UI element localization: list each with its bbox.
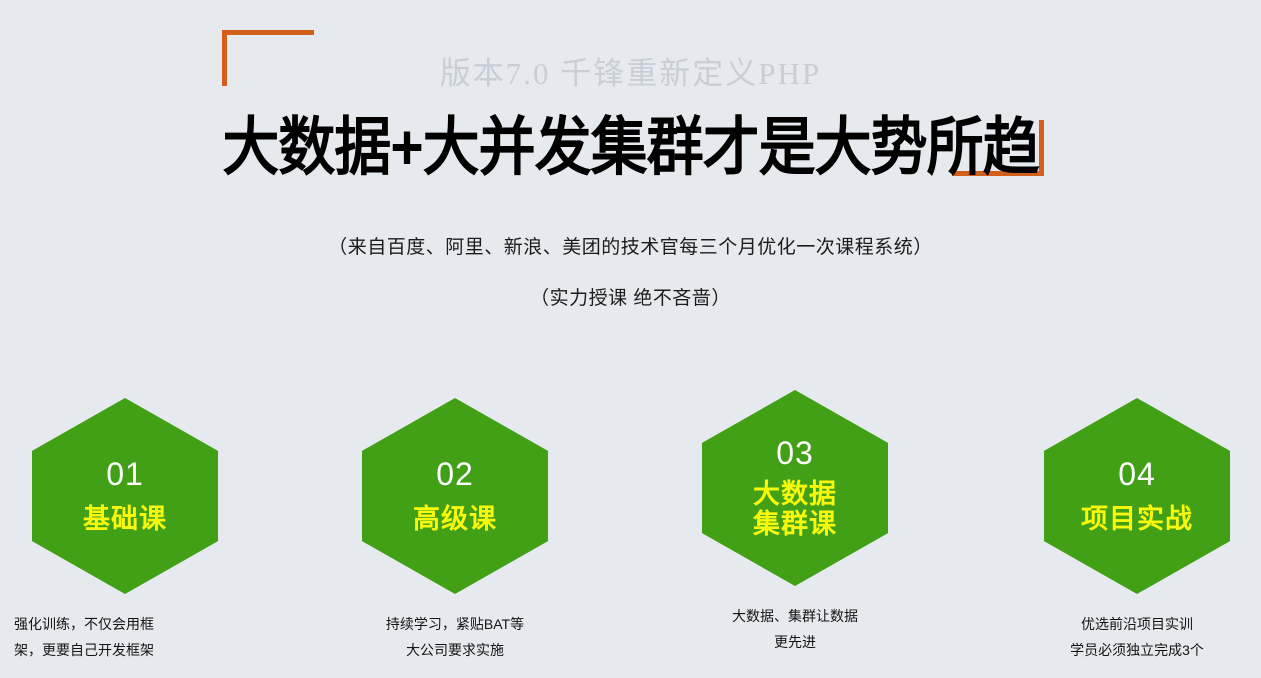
course-label-03-line-2: 集群课 bbox=[753, 509, 837, 539]
course-number-03: 03 bbox=[776, 437, 814, 469]
hexagon-shape-01[interactable]: 01 基础课 bbox=[32, 398, 218, 594]
hexagon-shape-04[interactable]: 04 项目实战 bbox=[1044, 398, 1230, 594]
course-label-02: 高级课 bbox=[413, 504, 497, 534]
course-number-01: 01 bbox=[106, 458, 144, 490]
course-label-03-line-1: 大数据 bbox=[753, 479, 837, 509]
course-item-02[interactable]: 02 高级课 持续学习，紧贴BAT等 大公司要求实施 bbox=[330, 398, 580, 664]
course-caption-03-line-2: 更先进 bbox=[670, 630, 920, 656]
hexagon-shape-03[interactable]: 03 大数据 集群课 bbox=[702, 390, 888, 586]
course-caption-01: 强化训练，不仅会用框 架，更要自己开发框架 bbox=[0, 612, 250, 664]
course-caption-03: 大数据、集群让数据 更先进 bbox=[670, 604, 920, 656]
course-label-03: 大数据 集群课 bbox=[753, 479, 837, 539]
course-caption-04-line-2: 学员必须独立完成3个 bbox=[1012, 638, 1261, 664]
course-number-04: 04 bbox=[1118, 458, 1156, 490]
course-label-01-line-1: 基础课 bbox=[83, 504, 167, 534]
course-item-04[interactable]: 04 项目实战 优选前沿项目实训 学员必须独立完成3个 bbox=[1012, 398, 1261, 664]
subheading-line-2: （实力授课 绝不吝啬） bbox=[0, 283, 1261, 310]
watermark-text: 版本7.0 千锋重新定义PHP bbox=[0, 48, 1261, 93]
header-block: 版本7.0 千锋重新定义PHP 大数据+大并发集群才是大势所趋 bbox=[0, 0, 1261, 210]
course-hexagon-row: 01 基础课 强化训练，不仅会用框 架，更要自己开发框架 02 高级课 持续学习… bbox=[0, 390, 1261, 678]
course-caption-02-line-1: 持续学习，紧贴BAT等 bbox=[330, 612, 580, 638]
course-item-03[interactable]: 03 大数据 集群课 大数据、集群让数据 更先进 bbox=[670, 390, 920, 656]
course-caption-04: 优选前沿项目实训 学员必须独立完成3个 bbox=[1012, 612, 1261, 664]
course-label-04-line-1: 项目实战 bbox=[1081, 504, 1193, 534]
course-label-01: 基础课 bbox=[83, 504, 167, 534]
course-item-01[interactable]: 01 基础课 强化训练，不仅会用框 架，更要自己开发框架 bbox=[0, 398, 250, 664]
subheading-block: （来自百度、阿里、新浪、美团的技术官每三个月优化一次课程系统） （实力授课 绝不… bbox=[0, 232, 1261, 310]
subheading-line-1: （来自百度、阿里、新浪、美团的技术官每三个月优化一次课程系统） bbox=[0, 232, 1261, 259]
course-label-04: 项目实战 bbox=[1081, 504, 1193, 534]
hexagon-shape-02[interactable]: 02 高级课 bbox=[362, 398, 548, 594]
course-caption-02-line-2: 大公司要求实施 bbox=[330, 638, 580, 664]
course-caption-04-line-1: 优选前沿项目实训 bbox=[1012, 612, 1261, 638]
course-number-02: 02 bbox=[436, 458, 474, 490]
course-caption-02: 持续学习，紧贴BAT等 大公司要求实施 bbox=[330, 612, 580, 664]
course-caption-03-line-1: 大数据、集群让数据 bbox=[670, 604, 920, 630]
course-caption-01-line-2: 架，更要自己开发框架 bbox=[14, 638, 250, 664]
course-caption-01-line-1: 强化训练，不仅会用框 bbox=[14, 612, 250, 638]
course-label-02-line-1: 高级课 bbox=[413, 504, 497, 534]
page-title: 大数据+大并发集群才是大势所趋 bbox=[0, 96, 1261, 188]
